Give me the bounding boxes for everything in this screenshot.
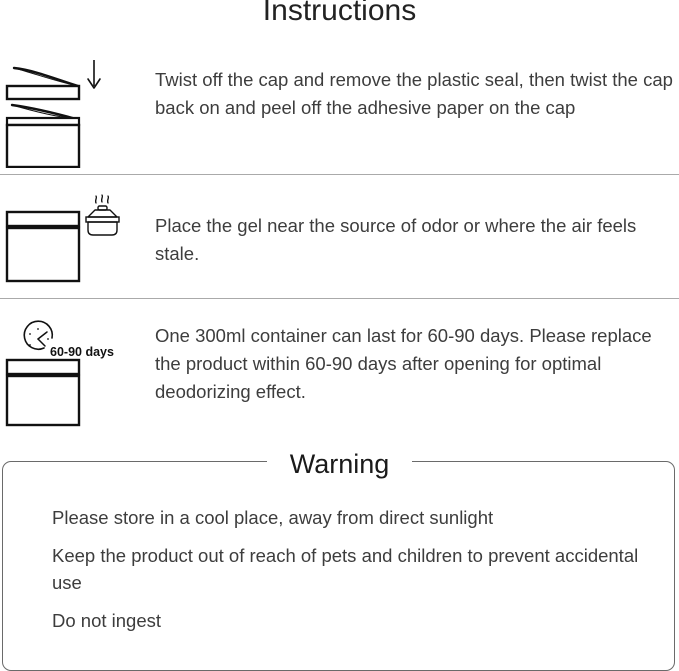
instructions-page: Instructions Twist off the c bbox=[0, 0, 679, 654]
instruction-step-1-text: Twist off the cap and remove the plastic… bbox=[155, 66, 675, 122]
page-title: Instructions bbox=[0, 0, 679, 31]
instruction-step-1: Twist off the cap and remove the plastic… bbox=[0, 48, 679, 168]
warning-item: Please store in a cool place, away from … bbox=[52, 504, 642, 531]
warning-item: Do not ingest bbox=[52, 607, 642, 634]
warning-item: Keep the product out of reach of pets an… bbox=[52, 542, 642, 596]
warning-list: Please store in a cool place, away from … bbox=[52, 504, 642, 645]
instruction-step-3: 60-90 days One 300ml container can last … bbox=[0, 312, 679, 427]
instruction-step-2-text: Place the gel near the source of odor or… bbox=[155, 212, 675, 268]
warning-title: Warning bbox=[0, 447, 679, 481]
jar-closed-odor-source-icon bbox=[0, 190, 150, 290]
duration-label: 60-90 days bbox=[50, 345, 114, 359]
row-divider-2 bbox=[0, 298, 679, 299]
jar-closed-clock-graphic bbox=[0, 312, 150, 427]
instruction-step-3-text: One 300ml container can last for 60-90 d… bbox=[155, 322, 675, 406]
instruction-step-2: Place the gel near the source of odor or… bbox=[0, 190, 679, 290]
jar-open-lid-seal-arrow-icon bbox=[0, 48, 150, 168]
row-divider-1 bbox=[0, 174, 679, 175]
jar-open-lid-seal-arrow-graphic bbox=[0, 48, 150, 168]
jar-closed-clock-icon: 60-90 days bbox=[0, 312, 150, 427]
jar-closed-odor-source-graphic bbox=[0, 190, 150, 290]
